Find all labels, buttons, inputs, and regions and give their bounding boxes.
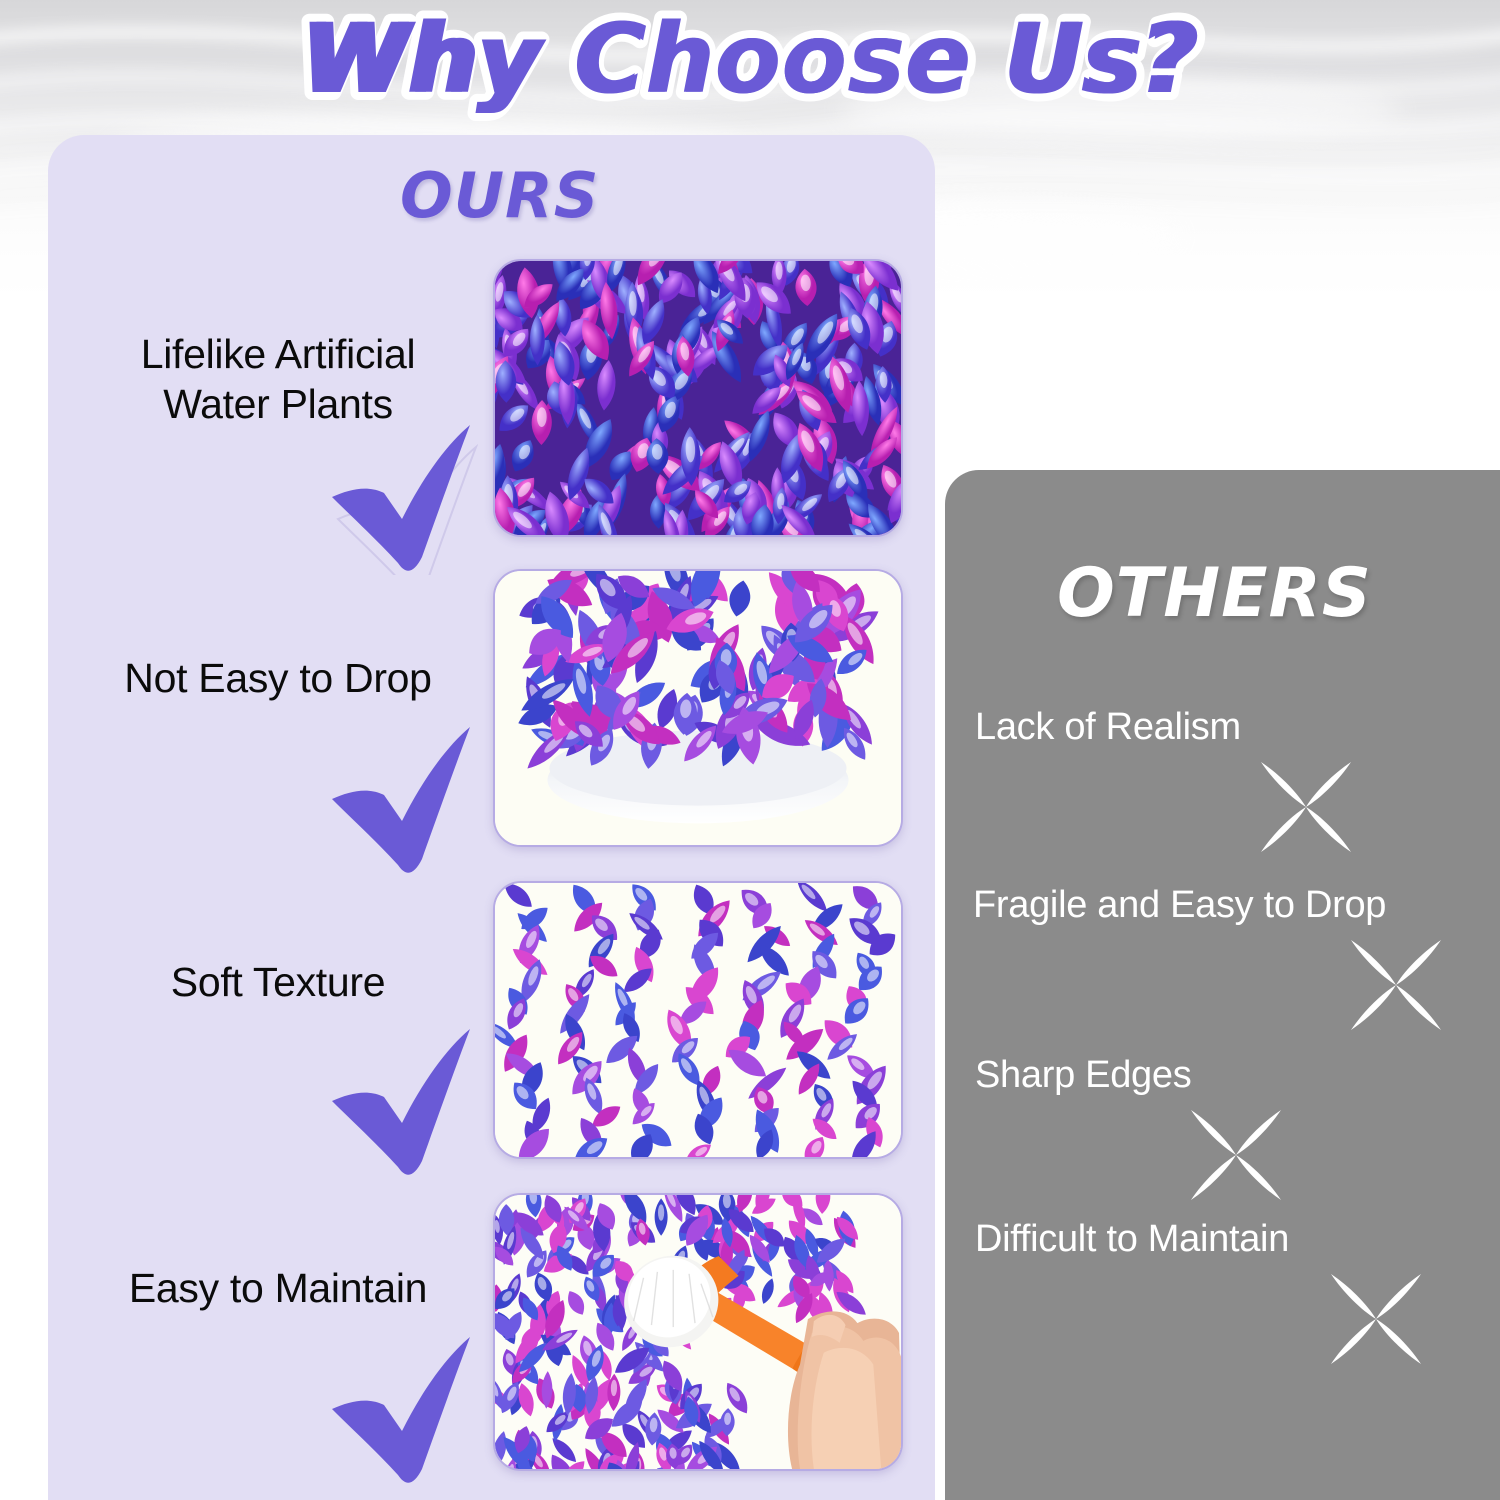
check-icon bbox=[310, 1027, 478, 1179]
feature-label-line: Water Plants bbox=[163, 381, 393, 427]
ours-heading: OURS bbox=[400, 159, 599, 232]
check-icon bbox=[310, 1335, 478, 1487]
cross-icon bbox=[1343, 932, 1449, 1038]
feature-photo bbox=[493, 881, 903, 1159]
feature-label-line: Lifelike Artificial bbox=[141, 331, 416, 377]
page-title-bar: Why Choose Us? Why Choose Us? bbox=[0, 0, 1500, 132]
feature-photo bbox=[493, 569, 903, 847]
ours-panel: OURS Lifelike Artificial Water Plants bbox=[48, 135, 935, 1500]
drawback-label: Difficult to Maintain bbox=[975, 1218, 1289, 1261]
feature-label: Not Easy to Drop bbox=[68, 653, 488, 703]
cross-icon bbox=[1253, 754, 1359, 860]
feature-row: Not Easy to Drop bbox=[48, 553, 935, 863]
drawback-label: Sharp Edges bbox=[975, 1054, 1191, 1097]
feature-label: Easy to Maintain bbox=[68, 1263, 488, 1313]
feature-row: Lifelike Artificial Water Plants bbox=[48, 243, 935, 553]
drawback-label: Fragile and Easy to Drop bbox=[973, 884, 1386, 927]
cross-icon bbox=[1323, 1266, 1429, 1372]
feature-photo bbox=[493, 1193, 903, 1471]
feature-row: Soft Texture bbox=[48, 865, 935, 1175]
feature-row: Easy to Maintain bbox=[48, 1177, 935, 1487]
feature-label: Soft Texture bbox=[68, 957, 488, 1007]
drawback-label: Lack of Realism bbox=[975, 706, 1241, 749]
page-title-overlay: Why Choose Us? bbox=[306, 3, 1193, 115]
feature-photo bbox=[493, 259, 903, 537]
others-panel: OTHERS Lack of Realism Fragile and Easy … bbox=[945, 470, 1500, 1500]
cross-icon bbox=[1183, 1102, 1289, 1208]
check-icon bbox=[310, 725, 478, 877]
page-title-graphic: Why Choose Us? Why Choose Us? bbox=[0, 0, 1500, 132]
others-heading: OTHERS bbox=[1057, 554, 1372, 633]
feature-label: Lifelike Artificial Water Plants bbox=[68, 329, 488, 429]
